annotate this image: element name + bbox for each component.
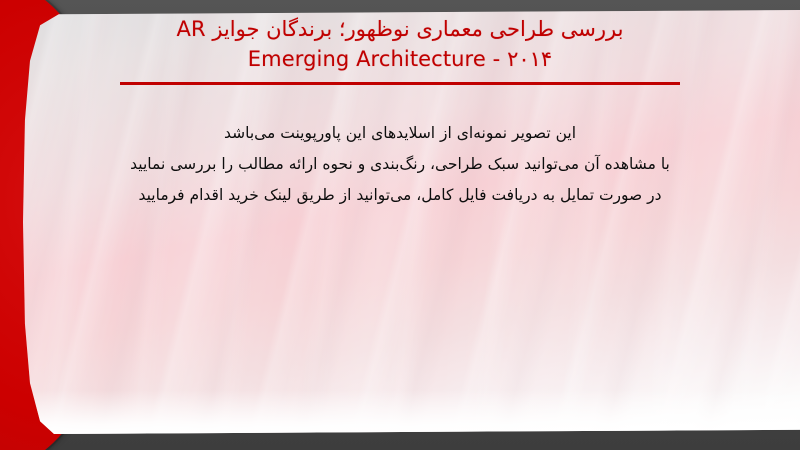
slide-body-line-2: با مشاهده آن می‌توانید سبک طراحی، رنگ‌بن… xyxy=(0,149,800,180)
slide-title-line-1: بررسی طراحی معماری نوظهور؛ برندگان جوایز… xyxy=(0,14,800,44)
title-underline-rule xyxy=(120,82,680,85)
slide-title-block: بررسی طراحی معماری نوظهور؛ برندگان جوایز… xyxy=(0,14,800,85)
slide-body-block: این تصویر نمونه‌ای از اسلایدهای این پاور… xyxy=(0,118,800,211)
presentation-slide: بررسی طراحی معماری نوظهور؛ برندگان جوایز… xyxy=(0,0,800,450)
slide-body-line-1: این تصویر نمونه‌ای از اسلایدهای این پاور… xyxy=(0,118,800,149)
slide-body-line-3: در صورت تمایل به دریافت فایل کامل، می‌تو… xyxy=(0,180,800,211)
slide-title-line-2: Emerging Architecture - ۲۰۱۴ xyxy=(0,44,800,74)
bottom-sheen-highlight xyxy=(23,390,800,434)
